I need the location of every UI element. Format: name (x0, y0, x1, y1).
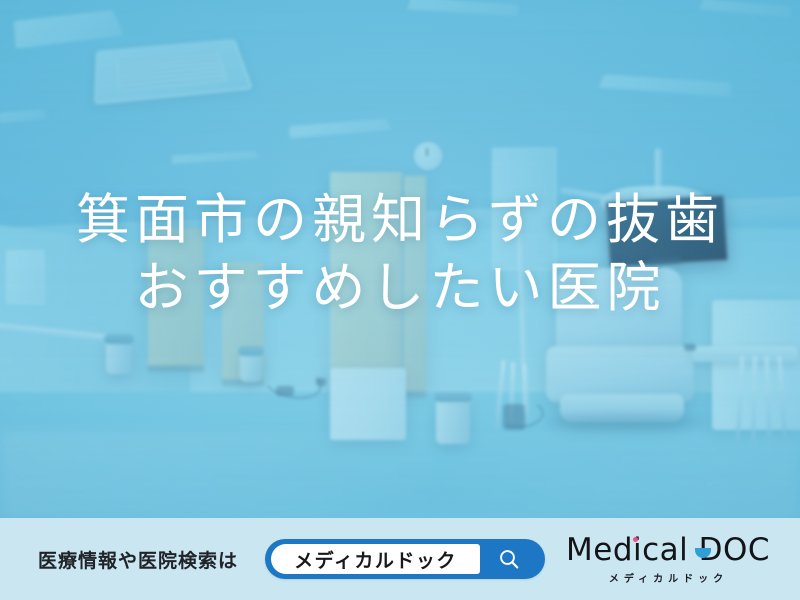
search-input[interactable]: メディカルドック (271, 544, 480, 574)
brand-subtitle: メディカルドック (566, 570, 766, 585)
brand-name: Medical DOC (566, 532, 770, 568)
hero-title: 箕面市の親知らずの抜歯 おすすめしたい医院 (0, 186, 800, 322)
footer-bar: 医療情報や医院検索は メディカルドック Medical DOC メディカルドック (0, 518, 800, 600)
footer-lead-text: 医療情報や医院検索は (38, 546, 238, 573)
search-button[interactable] (481, 539, 537, 579)
brand-logo: Medical DOC メディカルドック (566, 534, 766, 585)
hero-title-line-2: おすすめしたい医院 (0, 254, 800, 322)
hero-title-line-1: 箕面市の親知らずの抜歯 (0, 186, 800, 254)
search-box[interactable]: メディカルドック (265, 539, 545, 579)
brand-i-dot-icon (633, 537, 638, 542)
brand-name-wrap: Medical DOC (566, 534, 766, 567)
search-icon (497, 547, 521, 571)
search-input-value: メディカルドック (294, 546, 457, 573)
banner-page: 箕面市の親知らずの抜歯 おすすめしたい医院 医療情報や医院検索は メディカルドッ… (0, 0, 800, 600)
